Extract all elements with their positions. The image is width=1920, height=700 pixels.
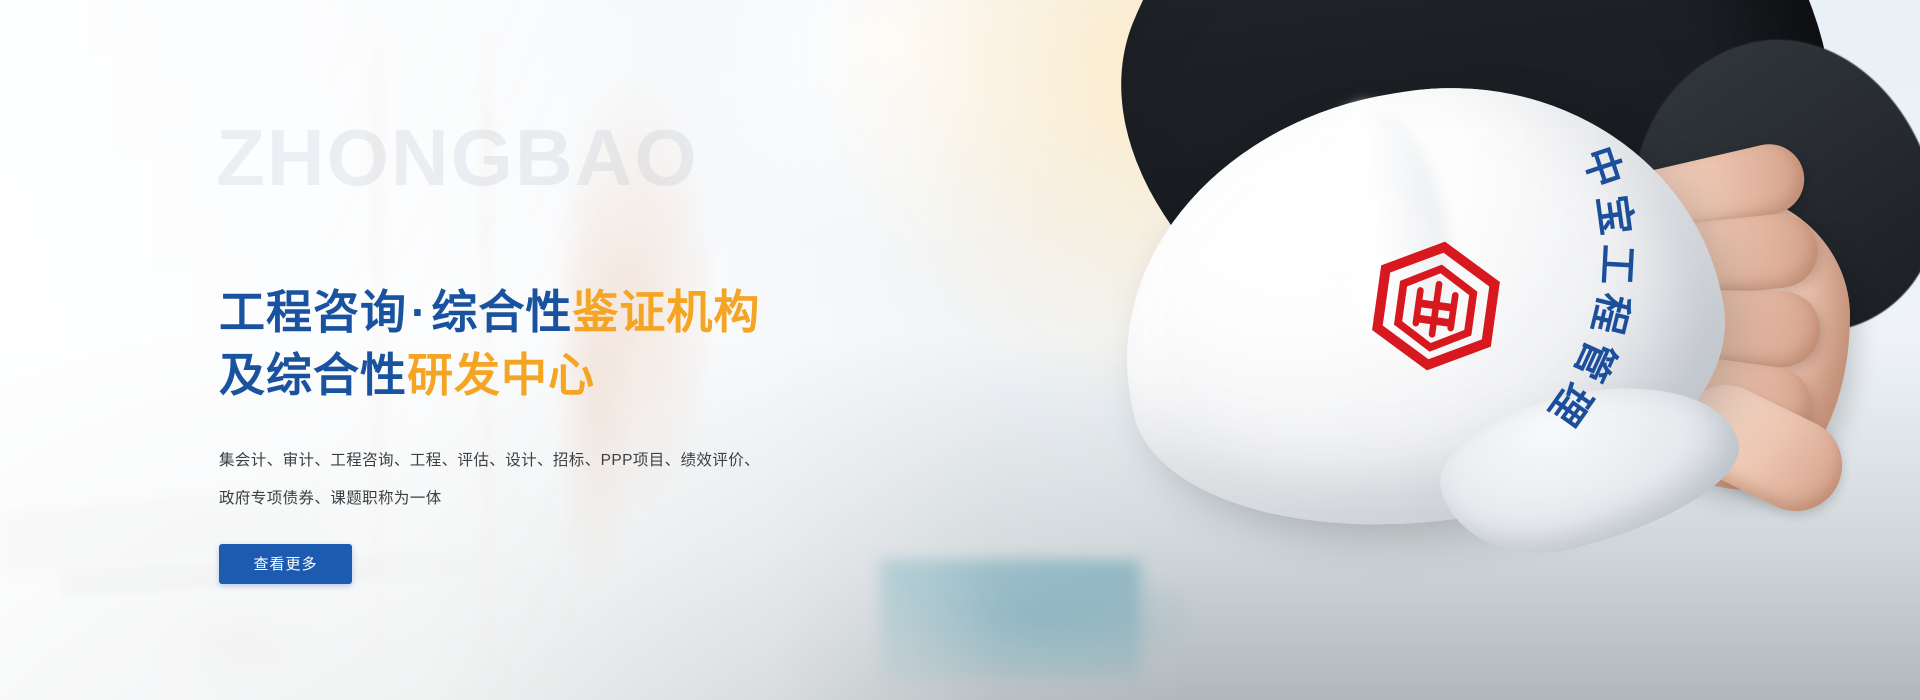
- headline-line1-blue: 工程咨询: [219, 286, 407, 338]
- helmet-brand-textpath: 中宝工程管理: [1537, 141, 1640, 438]
- headline-line2-orange: 研发中心: [407, 349, 595, 401]
- view-more-button[interactable]: 查看更多: [219, 544, 352, 584]
- headline-line-1: 工程咨询·综合性鉴证机构: [219, 282, 979, 343]
- hero-description: 集会计、审计、工程咨询、工程、评估、设计、招标、PPP项目、绩效评价、 政府专项…: [219, 442, 819, 518]
- hero-content: ZHONGBAO 工程咨询·综合性鉴证机构 及综合性研发中心 集会计、审计、工程…: [219, 0, 979, 700]
- watermark-text: ZHONGBAO: [216, 118, 699, 198]
- hand-holding-helmet-photo: 中宝工程管理: [820, 0, 1920, 700]
- zhongbao-hexagon-logo-icon: [1361, 231, 1510, 380]
- safety-helmet: 中宝工程管理: [1120, 92, 1760, 562]
- hero-banner: 中宝工程管理 ZHONGBAO 工程咨询·综合性鉴证机构 及综合性研发中心 集会…: [0, 0, 1920, 700]
- headline-line1-blue-2: 综合性: [431, 286, 572, 338]
- headline-line-2: 及综合性研发中心: [219, 345, 979, 406]
- description-line-1: 集会计、审计、工程咨询、工程、评估、设计、招标、PPP项目、绩效评价、: [219, 442, 819, 480]
- description-line-2: 政府专项债券、课题职称为一体: [219, 480, 819, 518]
- headline-line2-blue: 及综合性: [219, 349, 407, 401]
- headline-line1-orange: 鉴证机构: [572, 286, 760, 338]
- headline-separator-dot: ·: [407, 286, 431, 338]
- svg-text:中宝工程管理: 中宝工程管理: [1537, 141, 1640, 438]
